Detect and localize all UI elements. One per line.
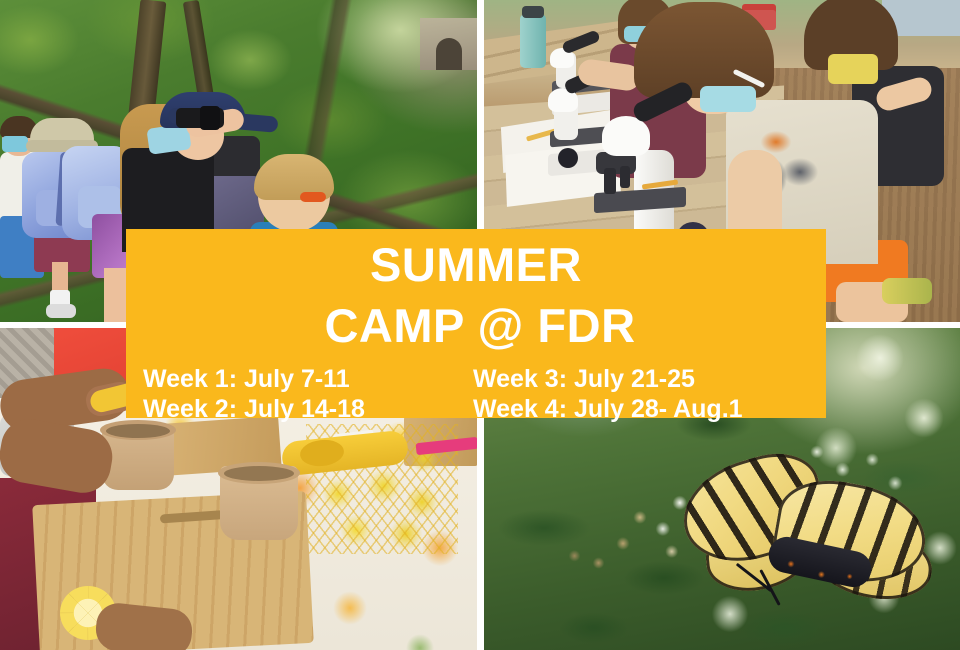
camp-week-3: Week 3: July 21-25 (456, 365, 826, 393)
child-sandal (882, 278, 932, 304)
microscope-head (602, 116, 650, 156)
water-bottle (520, 14, 546, 68)
summer-camp-flyer: SUMMER CAMP @ FDR Week 1: July 7-11 Week… (0, 0, 960, 650)
bridge-arch (436, 38, 462, 70)
face-mask (700, 86, 756, 112)
microscope-objective-lens (620, 166, 630, 188)
paper-cup-interior (224, 466, 294, 481)
camp-week-4: Week 4: July 28- Aug.1 (456, 395, 826, 423)
face-mask (2, 136, 28, 152)
eyeglasses (300, 192, 326, 202)
camp-week-list: Week 1: July 7-11 Week 3: July 21-25 Wee… (126, 349, 826, 423)
microscope-focus-knob (558, 148, 578, 168)
paper-cup-interior (106, 424, 170, 438)
face-mask (828, 54, 878, 84)
microscope-objective-lens (604, 168, 616, 194)
camp-week-2: Week 2: July 14-18 (126, 395, 456, 423)
summer-camp-banner: SUMMER CAMP @ FDR Week 1: July 7-11 Week… (126, 229, 826, 418)
binoculars-lens (200, 106, 220, 130)
page-title-line-2: CAMP @ FDR (126, 288, 826, 349)
swallowtail-butterfly (672, 460, 952, 620)
page-title-line-1: SUMMER (126, 229, 826, 288)
camp-week-1: Week 1: July 7-11 (126, 365, 456, 393)
water-bottle-cap (522, 6, 544, 18)
child-shoe (46, 304, 76, 318)
